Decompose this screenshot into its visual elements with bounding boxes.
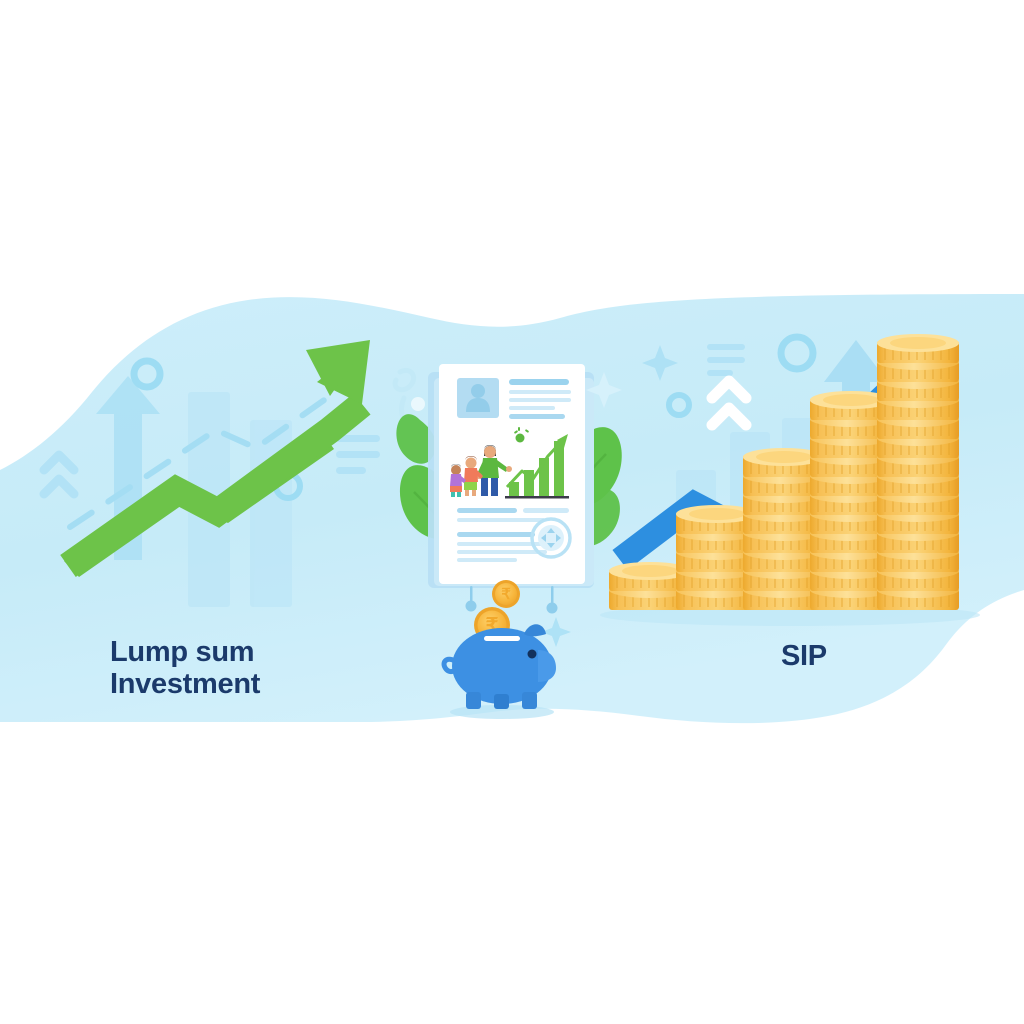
center-document-group: ₹ ₹	[0, 0, 1024, 1024]
chart-baseline	[505, 496, 569, 499]
piggy-ear	[524, 624, 546, 636]
piggy-leg	[494, 694, 509, 709]
piggy-leg	[522, 692, 537, 709]
illustration-canvas: ₹	[0, 0, 1024, 1024]
dot-deco	[411, 397, 425, 411]
label-sip: SIP	[781, 640, 827, 672]
avatar-placeholder	[457, 378, 499, 418]
piggy-snout	[538, 650, 556, 682]
label-lump-sum-investment: Lump sum Investment	[110, 636, 260, 701]
rupee-symbol: ₹	[501, 586, 511, 603]
piggy-eye	[528, 650, 537, 659]
piggy-bank	[444, 624, 556, 719]
piggy-coin-slot	[484, 636, 520, 641]
piggy-leg	[466, 692, 481, 709]
falling-coin: ₹	[492, 580, 520, 608]
